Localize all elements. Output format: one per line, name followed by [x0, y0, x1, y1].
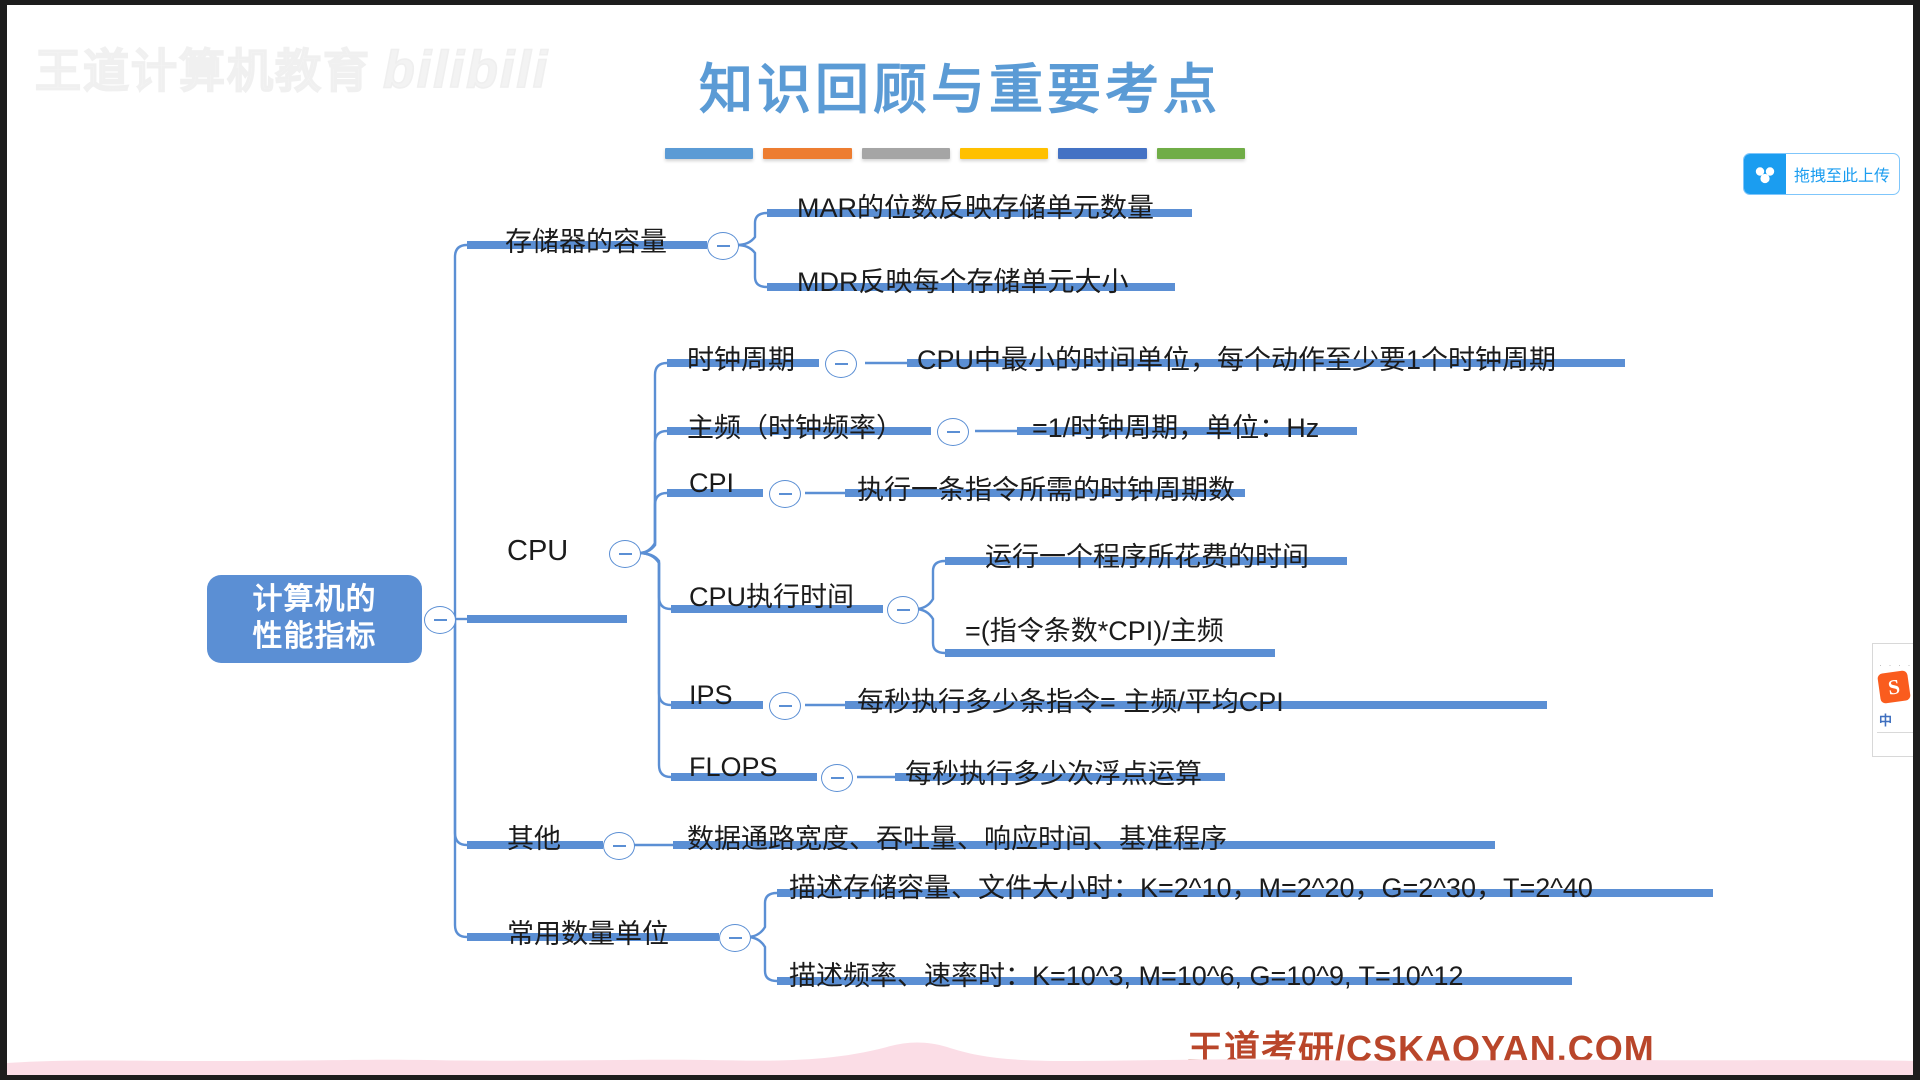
root-line-2: 性能指标	[253, 619, 377, 656]
node-mdr[interactable]: MDR反映每个存储单元大小	[797, 260, 1129, 299]
ime-divider	[1877, 732, 1915, 733]
ime-mode-label[interactable]: 中	[1879, 710, 1892, 729]
screen-edge-right	[1913, 0, 1920, 1080]
toggle-other[interactable]	[603, 832, 635, 860]
node-other[interactable]: 其他	[507, 817, 561, 856]
node-cpu-exec-time[interactable]: CPU执行时间	[689, 575, 854, 614]
node-ips-detail[interactable]: 每秒执行多少条指令= 主频/平均CPI	[857, 680, 1284, 719]
node-cpi-detail[interactable]: 执行一条指令所需的时钟周期数	[857, 468, 1235, 507]
screen: 王道计算机教育bilibili 知识回顾与重要考点	[0, 0, 1920, 1080]
node-flops[interactable]: FLOPS	[689, 752, 778, 783]
root-line-1: 计算机的	[253, 582, 377, 619]
slide-canvas: 王道计算机教育bilibili 知识回顾与重要考点	[7, 5, 1913, 1075]
toggle-root[interactable]	[424, 606, 456, 634]
node-cpu-exec-time-detail-1[interactable]: 运行一个程序所花费的时间	[985, 535, 1309, 574]
toggle-storage-capacity[interactable]	[707, 232, 739, 260]
ime-drag-dots: · · · ·	[1879, 660, 1913, 670]
screen-edge-top	[0, 0, 1920, 5]
upload-widget[interactable]: 拖拽至此上传	[1743, 153, 1900, 195]
bottom-wave-decoration	[7, 1035, 1913, 1075]
node-common-units-detail-1[interactable]: 描述存储容量、文件大小时：K=2^10，M=2^20，G=2^30，T=2^40	[789, 866, 1593, 905]
toggle-main-frequency[interactable]	[937, 418, 969, 446]
toggle-cpu-exec-time[interactable]	[887, 596, 919, 624]
mindmap-canvas	[7, 5, 1913, 1075]
toggle-clock-cycle[interactable]	[825, 350, 857, 378]
node-common-units[interactable]: 常用数量单位	[507, 912, 669, 951]
node-storage-capacity[interactable]: 存储器的容量	[505, 220, 667, 259]
toggle-cpi[interactable]	[769, 480, 801, 508]
toggle-flops[interactable]	[821, 764, 853, 792]
toggle-common-units[interactable]	[719, 924, 751, 952]
node-other-detail[interactable]: 数据通路宽度、吞吐量、响应时间、基准程序	[687, 817, 1227, 856]
node-main-frequency-detail[interactable]: =1/时钟周期，单位：Hz	[1032, 406, 1319, 445]
node-ips[interactable]: IPS	[689, 680, 733, 711]
node-common-units-detail-2[interactable]: 描述频率、速率时：K=10^3, M=10^6, G=10^9, T=10^12	[789, 954, 1463, 993]
node-clock-cycle-detail[interactable]: CPU中最小的时间单位，每个动作至少要1个时钟周期	[917, 338, 1556, 377]
sogou-logo-icon[interactable]: S	[1877, 670, 1911, 704]
node-cpi[interactable]: CPI	[689, 468, 734, 499]
node-cpu-exec-time-detail-2[interactable]: =(指令条数*CPI)/主频	[965, 609, 1224, 648]
screen-edge-bottom	[0, 1075, 1920, 1080]
mindmap-root-node[interactable]: 计算机的 性能指标	[207, 575, 422, 663]
upload-widget-label: 拖拽至此上传	[1786, 162, 1899, 186]
screen-edge-left	[0, 0, 7, 1080]
toggle-ips[interactable]	[769, 692, 801, 720]
node-main-frequency[interactable]: 主频（时钟频率）	[687, 406, 903, 445]
node-mar[interactable]: MAR的位数反映存储单元数量	[797, 186, 1154, 225]
node-clock-cycle[interactable]: 时钟周期	[687, 338, 795, 377]
baidu-netdisk-icon	[1744, 154, 1786, 194]
node-cpu[interactable]: CPU	[507, 535, 568, 568]
node-flops-detail[interactable]: 每秒执行多少次浮点运算	[905, 752, 1202, 791]
toggle-cpu[interactable]	[609, 540, 641, 568]
